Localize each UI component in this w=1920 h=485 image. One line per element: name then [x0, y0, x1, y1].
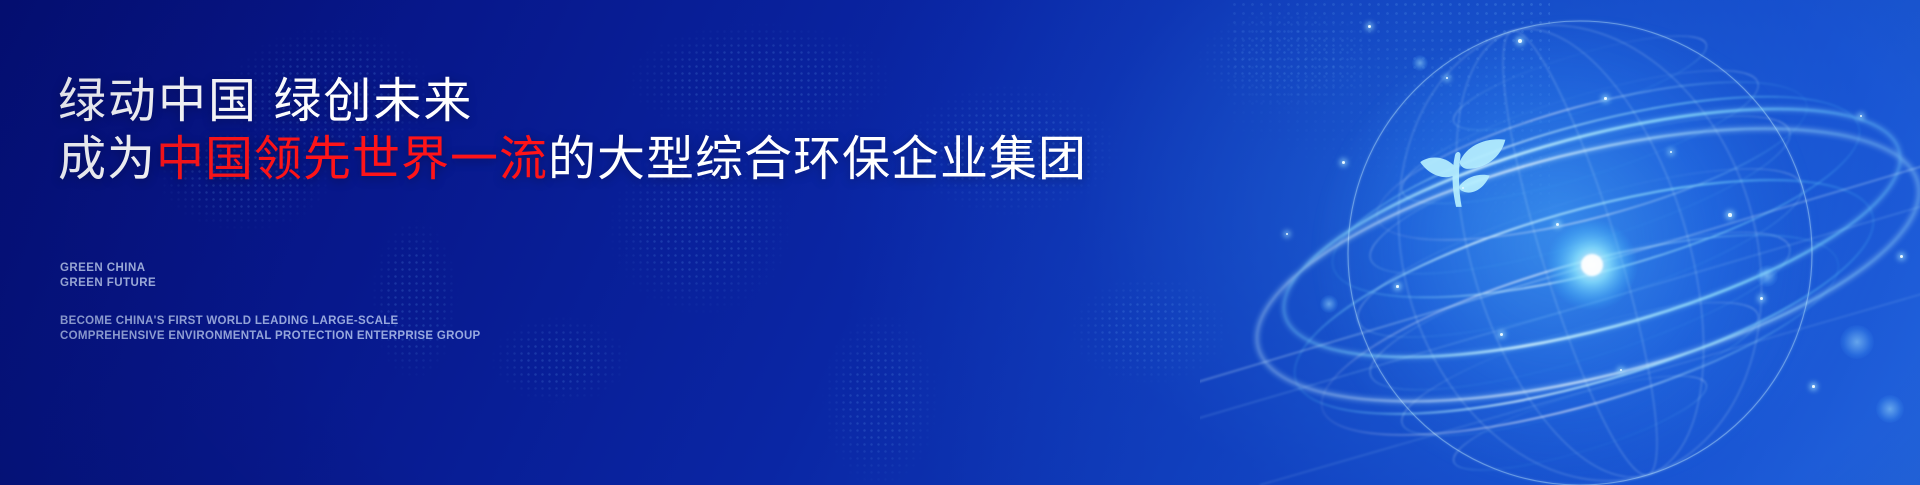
star-particles	[1200, 0, 1920, 485]
tagline-block: GREEN CHINA GREEN FUTURE	[60, 261, 156, 290]
subtitle-line-2: COMPREHENSIVE ENVIRONMENTAL PROTECTION E…	[60, 329, 481, 344]
headline-line-2: 成为中国领先世界一流的大型综合环保企业集团	[58, 136, 1087, 184]
headline-prefix: 成为	[58, 133, 156, 186]
subtitle-block: BECOME CHINA'S FIRST WORLD LEADING LARGE…	[60, 314, 481, 343]
tagline-line-2: GREEN FUTURE	[60, 276, 156, 291]
headline-line-1: 绿动中国 绿创未来	[58, 78, 473, 126]
subtitle-line-1: BECOME CHINA'S FIRST WORLD LEADING LARGE…	[60, 314, 481, 329]
globe-graphic	[1200, 0, 1920, 485]
headline-highlight: 中国领先世界一流	[156, 133, 548, 186]
headline-suffix: 的大型综合环保企业集团	[548, 133, 1087, 186]
hero-banner: 绿动中国 绿创未来 成为中国领先世界一流的大型综合环保企业集团 GREEN CH…	[0, 0, 1920, 485]
tagline-line-1: GREEN CHINA	[60, 261, 156, 276]
banner-copy: 绿动中国 绿创未来 成为中国领先世界一流的大型综合环保企业集团 GREEN CH…	[0, 0, 1100, 485]
